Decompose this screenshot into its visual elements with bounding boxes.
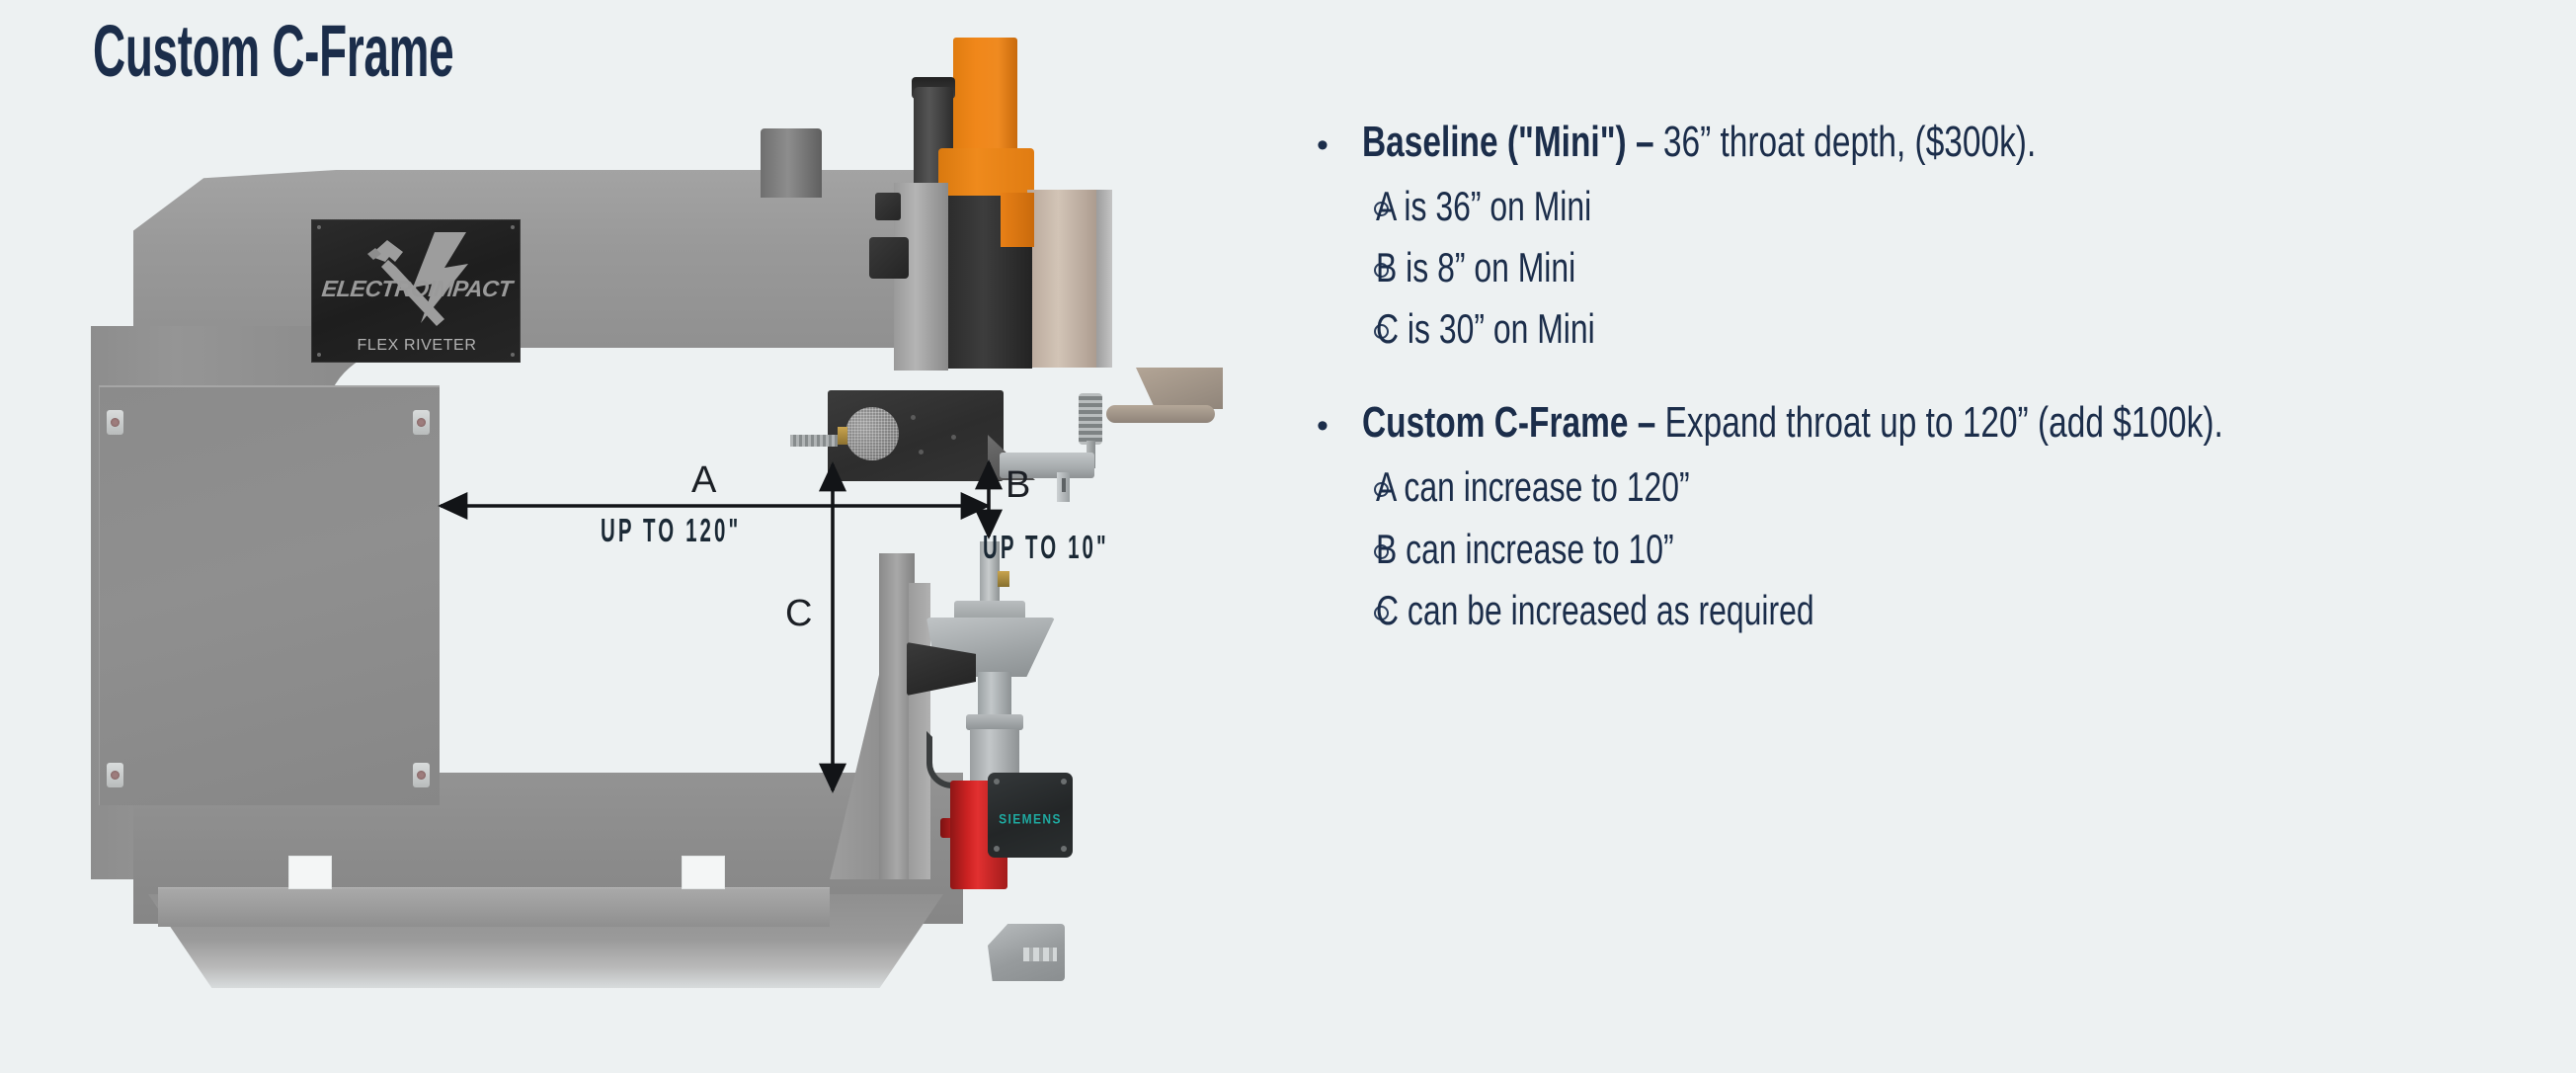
dimension-caption-b: UP TO 10"	[983, 529, 1109, 566]
bullet-marker: •	[1317, 117, 1362, 168]
sub-bullet-marker	[1317, 184, 1376, 229]
bullet-rest: Expand throat up to 120” (add $100k).	[1655, 398, 2222, 447]
sub-bullet-item: A is 36” on Mini	[1317, 184, 2502, 229]
bullet-text: Baseline ("Mini") – 36” throat depth, ($…	[1362, 117, 2228, 168]
bullet-marker: •	[1317, 397, 1362, 449]
sub-bullet-marker	[1317, 527, 1376, 572]
slide-canvas: Custom C-Frame	[0, 0, 2576, 1073]
sub-bullet-text: C can be increased as required	[1376, 588, 2231, 633]
dimension-caption-a: UP TO 120"	[601, 512, 741, 549]
sub-bullet-text: C is 30” on Mini	[1376, 306, 2231, 352]
bullet-lead: Custom C-Frame –	[1362, 398, 1655, 447]
dimension-label-c: C	[785, 593, 812, 635]
sub-bullet-item: C is 30” on Mini	[1317, 306, 2502, 352]
bullet-list: • Baseline ("Mini") – 36” throat depth, …	[1317, 117, 2502, 633]
bullet-item: • Custom C-Frame – Expand throat up to 1…	[1317, 397, 2502, 449]
sub-bullet-item: A can increase to 120”	[1317, 464, 2502, 510]
sub-bullet-marker	[1317, 306, 1376, 352]
sub-bullet-text: B can increase to 10”	[1376, 527, 2231, 572]
bullet-lead: Baseline ("Mini") –	[1362, 118, 1654, 166]
sub-bullet-marker	[1317, 588, 1376, 633]
bullet-rest: 36” throat depth, ($300k).	[1654, 118, 2037, 166]
sub-bullet-marker	[1317, 464, 1376, 510]
sub-bullet-marker	[1317, 245, 1376, 290]
sub-bullet-item: B can increase to 10”	[1317, 527, 2502, 572]
bullet-text: Custom C-Frame – Expand throat up to 120…	[1362, 397, 2228, 449]
sub-bullet-text: B is 8” on Mini	[1376, 245, 2231, 290]
sub-bullet-item: C can be increased as required	[1317, 588, 2502, 633]
dimension-label-a: A	[691, 459, 716, 502]
sub-bullet-text: A can increase to 120”	[1376, 464, 2231, 510]
group-spacer	[1317, 352, 2502, 397]
sub-bullet-item: B is 8” on Mini	[1317, 245, 2502, 290]
dimension-label-b: B	[1006, 464, 1030, 507]
dimension-annotations: A B C UP TO 120" UP TO 10"	[0, 0, 1254, 1073]
sub-bullet-text: A is 36” on Mini	[1376, 184, 2231, 229]
bullet-item: • Baseline ("Mini") – 36” throat depth, …	[1317, 117, 2502, 168]
